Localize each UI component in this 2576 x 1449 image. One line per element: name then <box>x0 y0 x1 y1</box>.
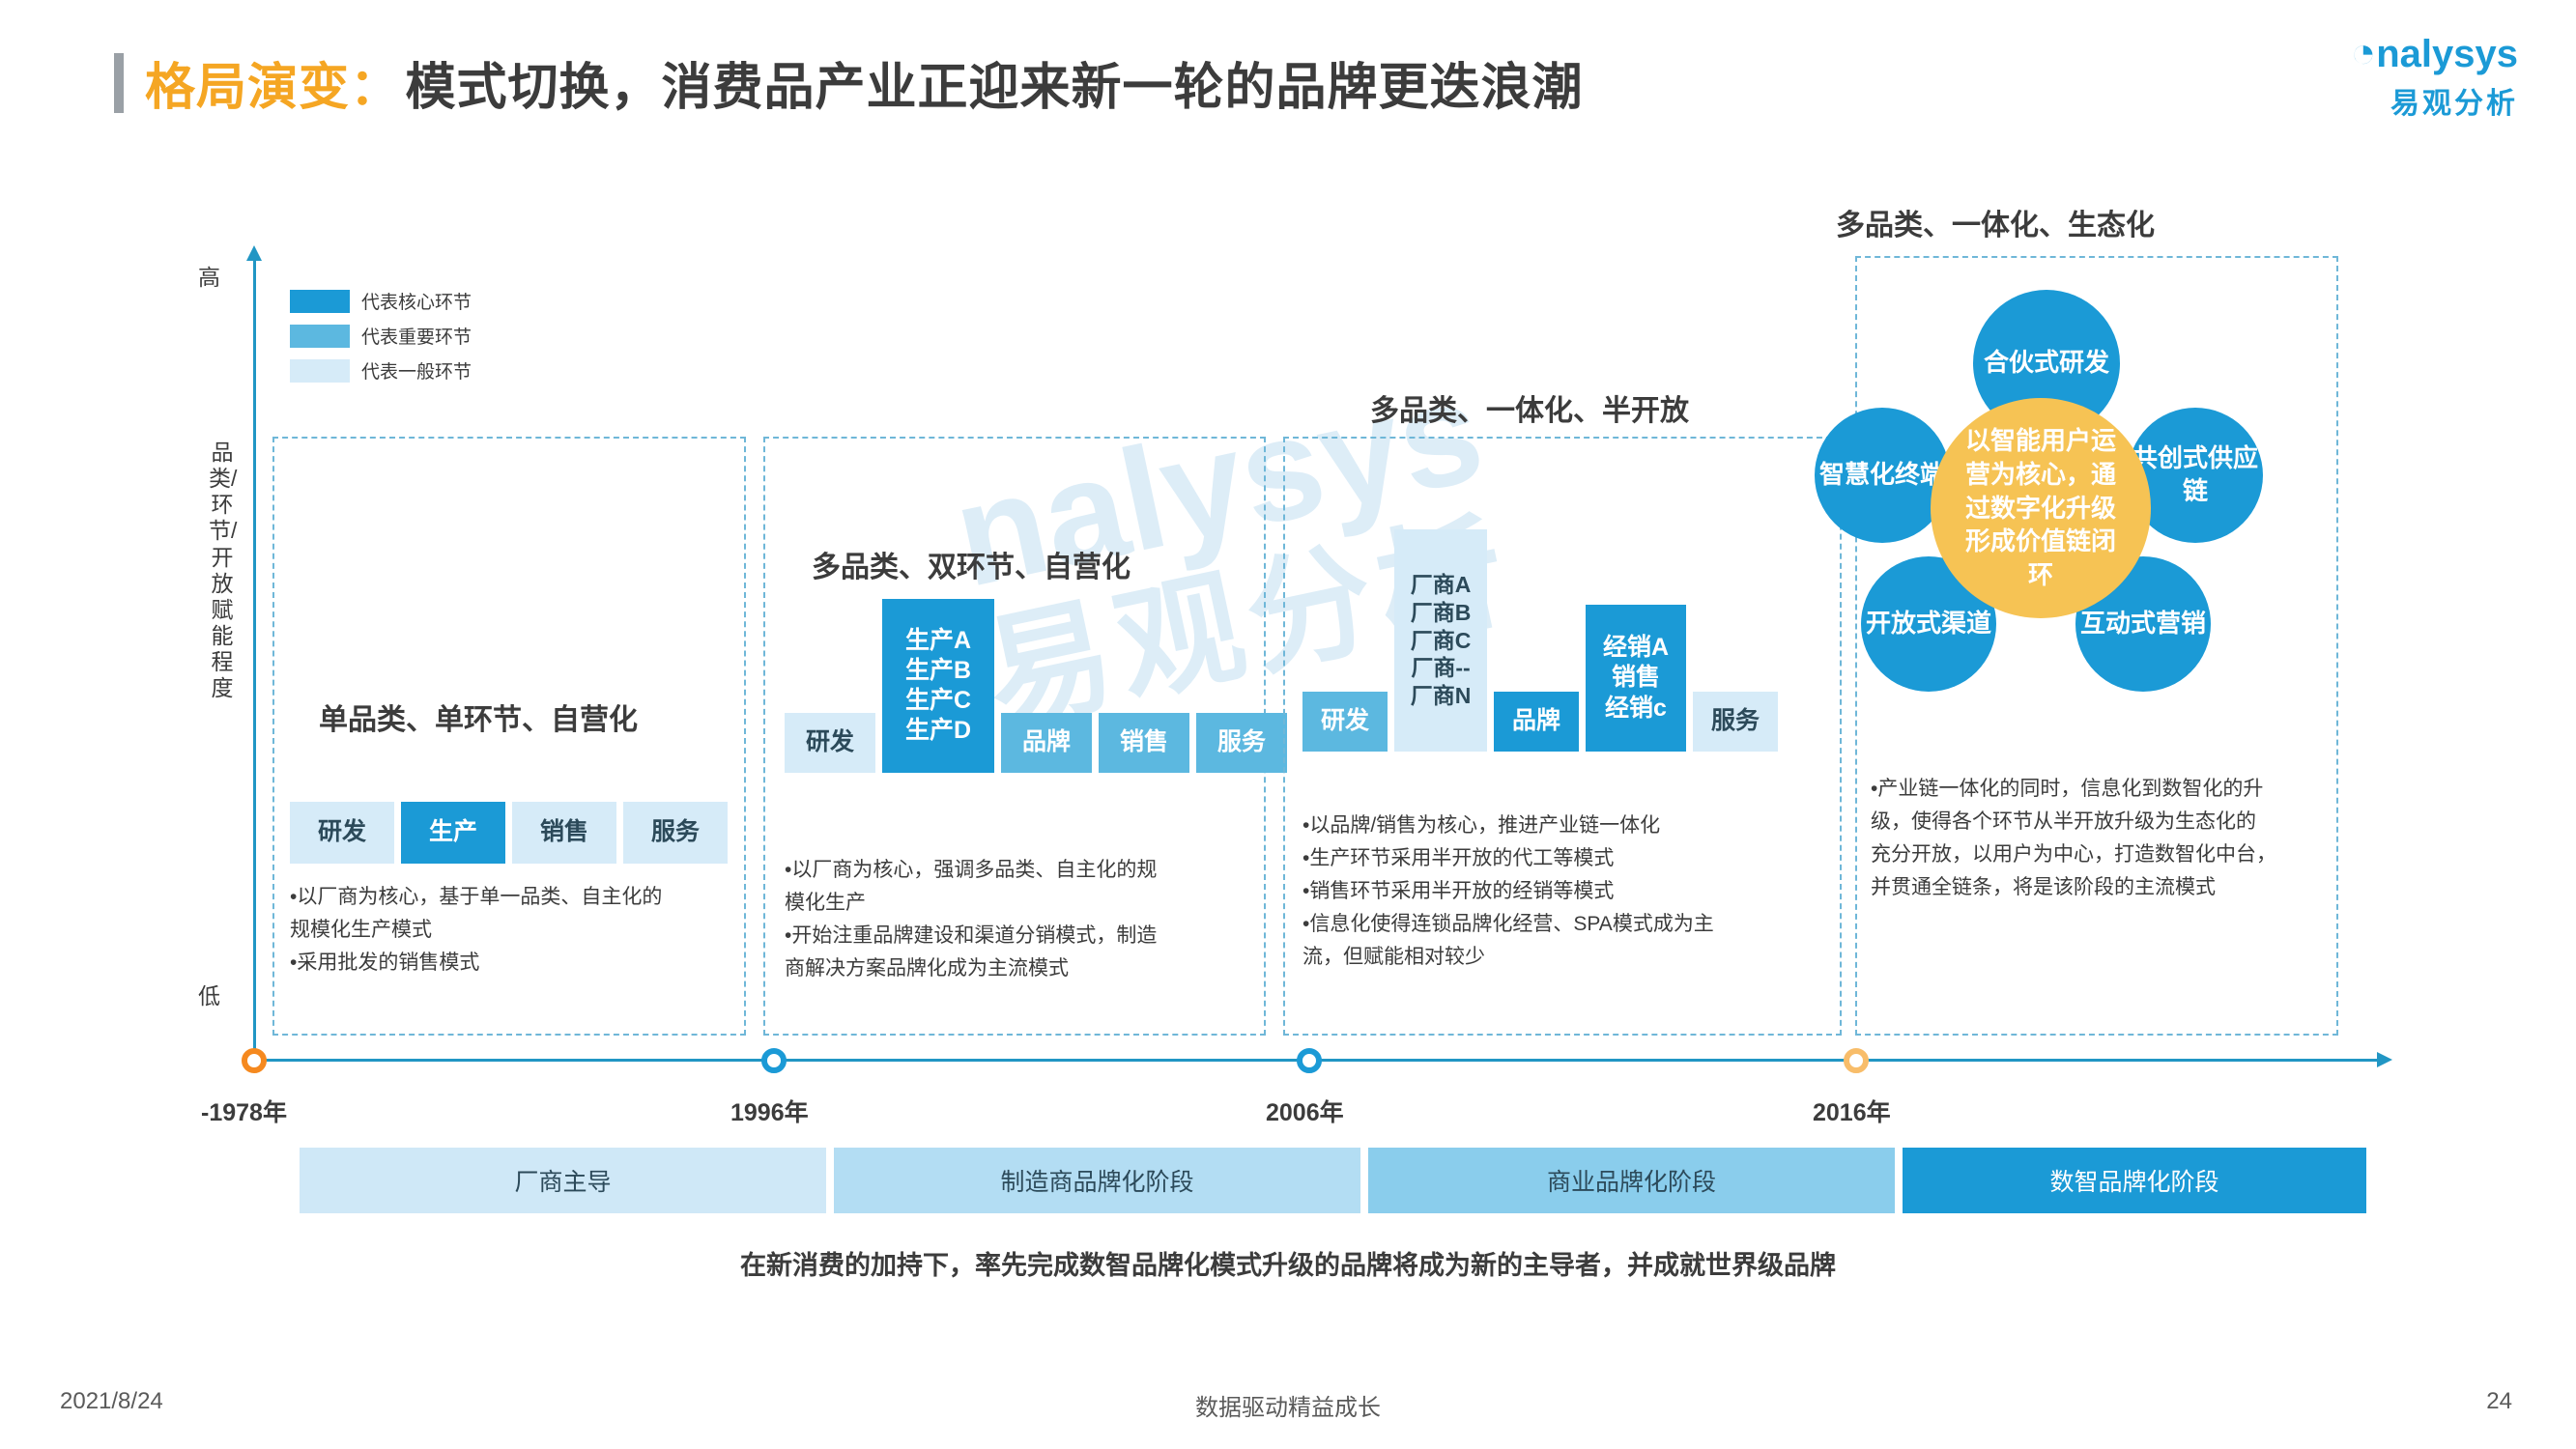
legend-label-important: 代表重要环节 <box>361 323 472 349</box>
legend: 代表核心环节 代表重要环节 代表一般环节 <box>290 288 472 392</box>
footer-tagline: 数据驱动精益成长 <box>0 1388 2576 1422</box>
chain-box-sales: 销售 <box>512 802 616 864</box>
phase-bar-manufacturer-brand: 制造商品牌化阶段 <box>834 1148 1360 1213</box>
y-axis-title: 品类/环节/开放赋能程度 <box>209 440 236 701</box>
page-title: 格局演变： 模式切换，消费品产业正迎来新一轮的品牌更迭浪潮 <box>114 46 1583 119</box>
legend-label-core: 代表核心环节 <box>361 288 472 314</box>
legend-item: 代表重要环节 <box>290 323 472 349</box>
bullet-line: 级，使得各个环节从半开放升级为生态化的 <box>1871 806 2334 838</box>
timeline-label-1978: -1978年 <box>201 1094 287 1128</box>
legend-swatch-core <box>290 290 350 313</box>
conclusion-text: 在新消费的加持下，率先完成数智品牌化模式升级的品牌将成为新的主导者，并成就世界级… <box>0 1244 2576 1282</box>
chain-box-dealers: 经销A 销售 经销c <box>1586 605 1686 752</box>
bullet-line: •以厂商为核心，强调多品类、自主化的规 <box>785 854 1268 887</box>
logo-subtitle: 易观分析 <box>2351 79 2518 122</box>
legend-item: 代表一般环节 <box>290 357 472 384</box>
stage-2-bullets: •以厂商为核心，强调多品类、自主化的规 模化生产 •开始注重品牌建设和渠道分销模… <box>785 854 1268 985</box>
chain-box-service: 服务 <box>1693 692 1778 752</box>
stage-1-title: 单品类、单环节、自营化 <box>319 696 638 738</box>
y-axis <box>253 259 256 1061</box>
bullet-line: •采用批发的销售模式 <box>290 947 744 980</box>
bullet-line: 流，但赋能相对较少 <box>1302 941 1844 974</box>
bullet-line: 并贯通全链条，将是该阶段的主流模式 <box>1871 871 2334 904</box>
bullet-line: 规模化生产模式 <box>290 914 744 947</box>
chain-box-service: 服务 <box>1196 713 1287 773</box>
bullet-line: 充分开放，以用户为中心，打造数智化中台， <box>1871 838 2334 871</box>
timeline-dot-2016 <box>1844 1048 1869 1073</box>
bullet-line: •产业链一体化的同时，信息化到数智化的升 <box>1871 773 2334 806</box>
chain-box-rd: 研发 <box>785 713 875 773</box>
timeline-dot-1978 <box>242 1048 267 1073</box>
chain-box-factories: 厂商A 厂商B 厂商C 厂商-- 厂商N <box>1394 529 1487 752</box>
stage-1-bullets: •以厂商为核心，基于单一品类、自主化的 规模化生产模式 •采用批发的销售模式 <box>290 881 744 980</box>
chain-box-sales: 销售 <box>1099 713 1189 773</box>
bullet-line: •以厂商为核心，基于单一品类、自主化的 <box>290 881 744 914</box>
bullet-line: 模化生产 <box>785 887 1268 920</box>
phase-bar-commercial-brand: 商业品牌化阶段 <box>1368 1148 1895 1213</box>
stage-4-title: 多品类、一体化、生态化 <box>1836 201 2155 243</box>
logo-wordmark: ◔nalysys <box>2351 29 2518 77</box>
timeline-dot-1996 <box>761 1048 787 1073</box>
bullet-line: •销售环节采用半开放的经销等模式 <box>1302 875 1844 908</box>
phase-bar-digital-brand: 数智品牌化阶段 <box>1903 1148 2366 1213</box>
stage-2-value-chain: 研发 生产A 生产B 生产C 生产D 品牌 销售 服务 <box>785 599 1287 773</box>
stage-3-bullets: •以品牌/销售为核心，推进产业链一体化 •生产环节采用半开放的代工等模式 •销售… <box>1302 810 1844 974</box>
chain-box-produce: 生产A 生产B 生产C 生产D <box>882 599 994 773</box>
eco-node-terminal: 智慧化终端 <box>1815 408 1950 543</box>
chain-box-rd: 研发 <box>290 802 394 864</box>
title-accent-bar <box>114 53 124 113</box>
page-title-highlight: 格局演变： <box>145 60 401 116</box>
brand-logo: ◔nalysys 易观分析 <box>2351 29 2518 122</box>
bullet-line: 商解决方案品牌化成为主流模式 <box>785 952 1268 985</box>
stage-2-title: 多品类、双环节、自营化 <box>812 543 1131 585</box>
eco-center-label: 以智能用户运营为核心，通过数字化升级形成价值链闭环 <box>1931 398 2151 618</box>
chain-box-brand: 品牌 <box>1001 713 1092 773</box>
swirl-icon: ◔ <box>2351 29 2377 76</box>
page-title-rest: 模式切换，消费品产业正迎来新一轮的品牌更迭浪潮 <box>405 60 1583 116</box>
legend-swatch-important <box>290 325 350 348</box>
phase-bar-row: 厂商主导 制造商品牌化阶段 商业品牌化阶段 数智品牌化阶段 <box>300 1148 2366 1213</box>
footer-page-number: 24 <box>2486 1388 2512 1415</box>
y-axis-low-label: 低 <box>198 978 220 1010</box>
legend-item: 代表核心环节 <box>290 288 472 314</box>
chain-box-produce: 生产 <box>401 802 505 864</box>
timeline-dot-2006 <box>1297 1048 1322 1073</box>
phase-bar-manufacturer-led: 厂商主导 <box>300 1148 826 1213</box>
chain-box-brand: 品牌 <box>1494 692 1579 752</box>
logo-wordmark-text: nalysys <box>2376 33 2518 75</box>
legend-swatch-general <box>290 359 350 383</box>
bullet-line: •开始注重品牌建设和渠道分销模式，制造 <box>785 920 1268 952</box>
bullet-line: •生产环节采用半开放的代工等模式 <box>1302 842 1844 875</box>
bullet-line: •以品牌/销售为核心，推进产业链一体化 <box>1302 810 1844 842</box>
chain-box-service: 服务 <box>623 802 728 864</box>
y-axis-high-label: 高 <box>198 259 220 292</box>
chain-box-rd: 研发 <box>1302 692 1388 752</box>
stage-4-ecosystem: 合伙式研发 共创式供应链 互动式营销 开放式渠道 智慧化终端 以智能用户运营为核… <box>1807 290 2290 696</box>
stage-4-bullets: •产业链一体化的同时，信息化到数智化的升 级，使得各个环节从半开放升级为生态化的… <box>1871 773 2334 904</box>
timeline-label-1996: 1996年 <box>730 1094 809 1128</box>
stage-3-value-chain: 研发 厂商A 厂商B 厂商C 厂商-- 厂商N 品牌 经销A 销售 经销c 服务 <box>1302 529 1778 752</box>
stage-1-value-chain: 研发 生产 销售 服务 <box>290 802 728 864</box>
timeline-label-2006: 2006年 <box>1266 1094 1344 1128</box>
stage-3-title: 多品类、一体化、半开放 <box>1370 386 1689 429</box>
bullet-line: •信息化使得连锁品牌化经营、SPA模式成为主 <box>1302 908 1844 941</box>
legend-label-general: 代表一般环节 <box>361 357 472 384</box>
timeline-label-2016: 2016年 <box>1813 1094 1891 1128</box>
